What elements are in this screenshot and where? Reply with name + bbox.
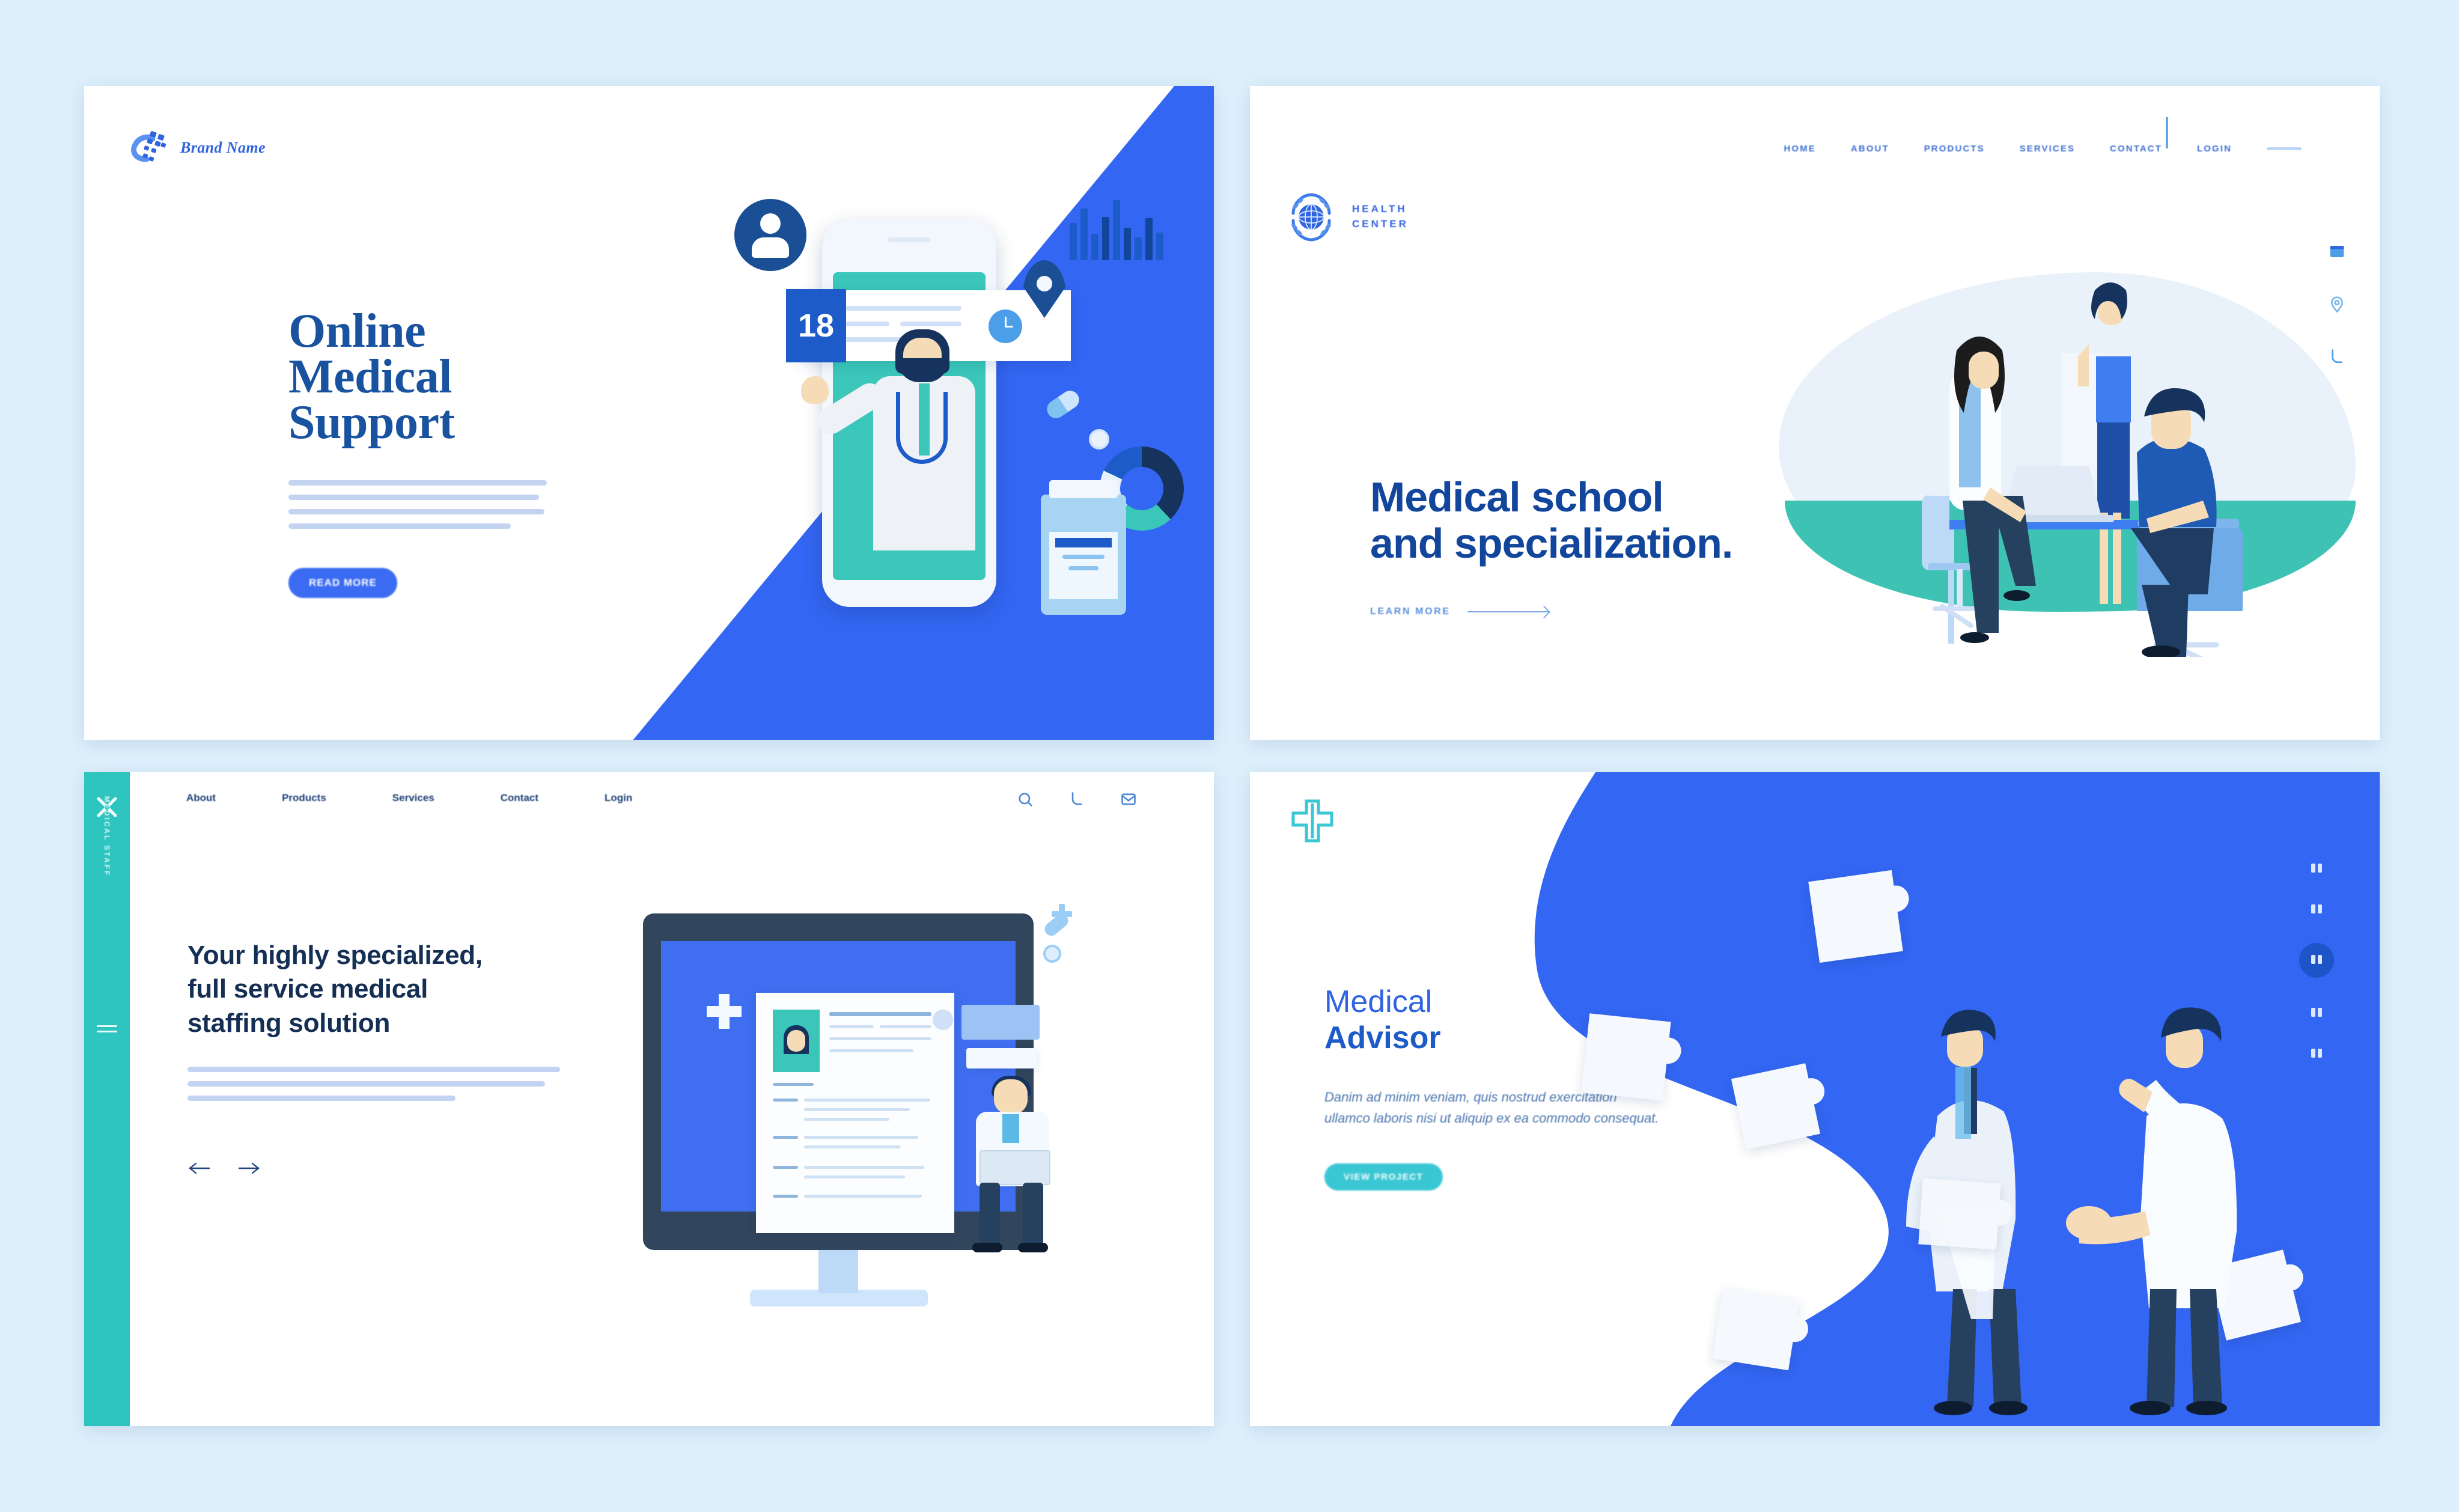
hero-copy-block: Your highly specialized, full service me… <box>187 939 560 1175</box>
phone-notch <box>888 237 930 242</box>
menu-icon[interactable] <box>97 1022 117 1036</box>
headline-line-2: full service medical <box>187 972 560 1006</box>
medical-cross-icon <box>707 994 742 1029</box>
chat-bubble <box>966 1048 1037 1068</box>
bar-chart-icon <box>1070 188 1172 260</box>
carousel-controls[interactable] <box>187 1161 560 1175</box>
dotted-spiral-logo-icon <box>129 129 168 166</box>
arrow-left-icon[interactable] <box>187 1161 210 1175</box>
pill-icon <box>1043 918 1070 963</box>
nav-item-products[interactable]: PRODUCTS <box>1924 144 1985 154</box>
monitor-resume-illustration <box>631 883 1130 1316</box>
headline-line-1: Online <box>288 308 547 354</box>
doctor-figure <box>838 329 1019 588</box>
nav-item-services[interactable]: Services <box>392 792 434 804</box>
page-title: Your highly specialized, full service me… <box>187 939 560 1040</box>
calendar-badge: 18 <box>786 289 846 362</box>
logo-line-2: CENTER <box>1352 217 1409 232</box>
brand-name-label: Brand Name <box>180 139 266 157</box>
globe-laurel-logo-icon <box>1284 189 1339 245</box>
hero-body-text <box>187 1067 560 1101</box>
mail-icon[interactable] <box>1120 791 1137 808</box>
logo-line-1: HEALTH <box>1352 202 1409 217</box>
phone-icon[interactable] <box>1068 791 1085 808</box>
nav-divider-bar <box>2267 147 2302 150</box>
user-avatar-icon <box>734 199 806 271</box>
doctor-in-phone-illustration: 18 <box>685 176 1178 657</box>
screenshot-stage: Brand Name Online Medical Support READ M… <box>0 0 2459 1512</box>
landing-page-card-1: Brand Name Online Medical Support READ M… <box>84 86 1214 740</box>
headline-line-3: staffing solution <box>187 1007 560 1040</box>
nav-item-products[interactable]: Products <box>282 792 326 804</box>
nav-item-about[interactable]: About <box>186 792 216 804</box>
landing-page-card-3: MEDICAL STAFF About Products Services Co… <box>84 772 1214 1426</box>
doctors-handshake-puzzle-illustration <box>1574 844 2380 1421</box>
headline-line-1: Your highly specialized, <box>187 939 560 972</box>
laptop-icon <box>980 1150 1050 1185</box>
nav-item-services[interactable]: SERVICES <box>2020 144 2075 154</box>
person-with-laptop <box>960 1079 1074 1254</box>
nav-item-home[interactable]: HOME <box>1784 144 1815 154</box>
health-center-logo[interactable]: HEALTH CENTER <box>1284 189 1409 245</box>
search-icon[interactable] <box>1017 791 1034 808</box>
nav-item-login[interactable]: Login <box>605 792 632 804</box>
read-more-button[interactable]: READ MORE <box>288 568 397 598</box>
medical-cross-icon <box>685 275 756 346</box>
headline-line-1: Medical <box>1324 984 1432 1019</box>
sidebar-vertical-text: MEDICAL STAFF <box>103 796 111 877</box>
learn-more-label: LEARN MORE <box>1370 606 1451 617</box>
main-navigation[interactable]: HOME ABOUT PRODUCTS SERVICES CONTACT LOG… <box>1784 144 2302 154</box>
hero-copy-block: Online Medical Support READ MORE <box>288 308 547 598</box>
resume-document <box>756 993 954 1233</box>
page-title: Online Medical Support <box>288 308 547 445</box>
nav-item-about[interactable]: ABOUT <box>1851 144 1889 154</box>
logo-text: HEALTH CENTER <box>1352 202 1409 231</box>
line-medical-cross-icon[interactable] <box>1286 795 1338 847</box>
arrow-right-icon[interactable] <box>238 1161 261 1175</box>
headline-line-2: Medical <box>288 354 547 400</box>
standing-presenter <box>2061 282 2131 604</box>
secondary-navigation[interactable]: About Products Services Contact Login <box>186 792 632 804</box>
seated-man <box>2131 388 2243 657</box>
nav-item-login[interactable]: LOGIN <box>2197 144 2232 154</box>
hero-body-text <box>288 480 547 529</box>
chat-bubble <box>961 1005 1040 1040</box>
landing-page-card-2: HOME ABOUT PRODUCTS SERVICES CONTACT LOG… <box>1250 86 2380 740</box>
chat-avatar-icon <box>933 1010 953 1030</box>
handshake-icon <box>2066 1206 2112 1240</box>
pill-bottle-icon <box>1041 495 1126 615</box>
puzzle-piece <box>1918 1178 2000 1250</box>
view-project-button[interactable]: VIEW PROJECT <box>1324 1163 1443 1190</box>
team-at-desk-illustration <box>1779 248 2380 657</box>
tablet-icon <box>1089 429 1109 450</box>
tablet-icon <box>1043 945 1061 963</box>
small-cross-icon <box>1052 904 1072 924</box>
monitor-neck <box>818 1250 858 1293</box>
pill-icon <box>1046 395 1080 413</box>
header-icon-group[interactable] <box>1017 791 1137 808</box>
brand-logo[interactable]: Brand Name <box>129 129 266 166</box>
headline-line-3: Support <box>288 400 547 445</box>
nav-item-contact[interactable]: CONTACT <box>2110 144 2162 154</box>
landing-page-card-4: Medical Advisor Danim ad minim veniam, q… <box>1250 772 2380 1426</box>
profile-photo <box>773 1010 820 1072</box>
arrow-right-icon <box>1467 611 1549 612</box>
nav-item-contact[interactable]: Contact <box>501 792 538 804</box>
left-sidebar: MEDICAL STAFF <box>84 772 130 1426</box>
